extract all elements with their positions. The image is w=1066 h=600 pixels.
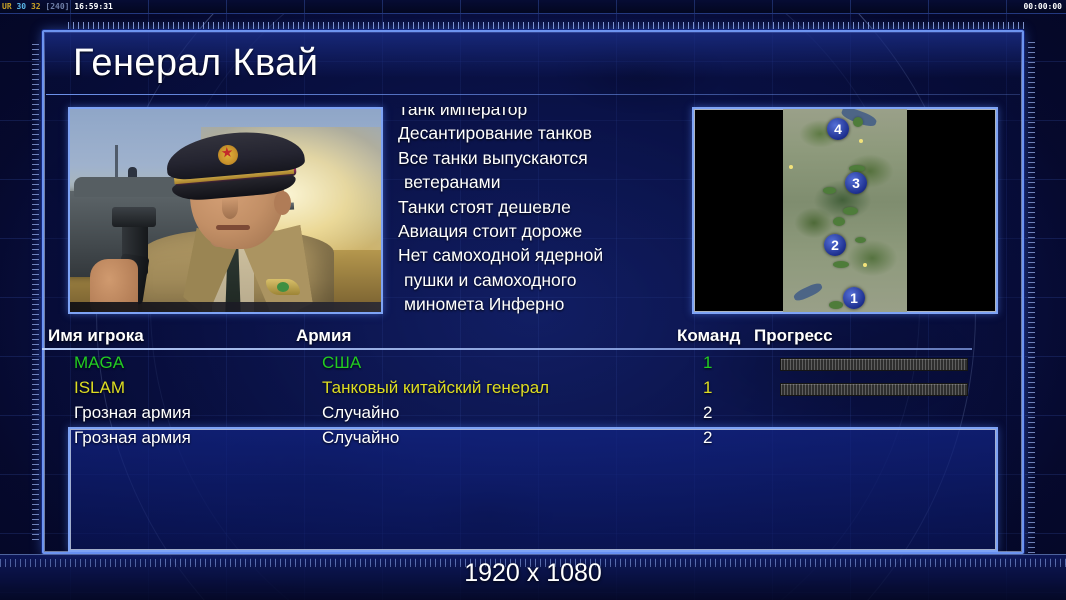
map-terrain-patch bbox=[833, 217, 845, 226]
map-preview-image: 4 3 2 1 bbox=[783, 109, 907, 314]
ability-line: Все танки выпускаются bbox=[388, 146, 678, 170]
map-start-position-1[interactable]: 1 bbox=[843, 287, 865, 309]
map-terrain-patch bbox=[853, 117, 863, 127]
ruler-left-icon bbox=[32, 44, 39, 544]
player-table-header-divider bbox=[42, 348, 972, 350]
header-army: Армия bbox=[296, 326, 351, 346]
table-row[interactable]: Грозная армияСлучайно2 bbox=[68, 428, 998, 453]
header-player-name: Имя игрока bbox=[48, 326, 144, 346]
table-row[interactable]: Грозная армияСлучайно2 bbox=[68, 403, 998, 428]
general-description: Танк императорДесантирование танковВсе т… bbox=[388, 107, 678, 314]
title-divider bbox=[46, 94, 1020, 95]
top-hud-bar: UR 30 32 [240] 16:59:31 00:00:00 bbox=[0, 0, 1066, 14]
map-start-position-2[interactable]: 2 bbox=[824, 234, 846, 256]
ruler-top-icon bbox=[68, 22, 1024, 29]
general-ability-list: Танк императорДесантирование танковВсе т… bbox=[388, 107, 678, 314]
top-hud-grid bbox=[0, 0, 1066, 13]
hud-bracket-value: [240] bbox=[45, 2, 69, 11]
ability-line: Танк император bbox=[388, 107, 678, 121]
hud-status-left: UR 30 32 [240] 16:59:31 bbox=[2, 1, 113, 12]
cell-player-name: Грозная армия bbox=[74, 428, 191, 448]
map-start-position-3[interactable]: 3 bbox=[845, 172, 867, 194]
cell-player-name: Грозная армия bbox=[74, 403, 191, 423]
hud-timer-right: 00:00:00 bbox=[1023, 1, 1062, 12]
cell-army: США bbox=[322, 353, 361, 373]
map-resource-icon bbox=[859, 139, 863, 143]
ability-line: Десантирование танков bbox=[388, 121, 678, 145]
resolution-bar: 1920 x 1080 bbox=[0, 554, 1066, 600]
ability-line: пушки и самоходного bbox=[388, 268, 678, 292]
portrait-footer-strip bbox=[70, 302, 381, 312]
general-info-row: Танк императорДесантирование танковВсе т… bbox=[68, 107, 998, 319]
main-panel: Генерал Квай bbox=[42, 30, 1024, 554]
map-resource-icon bbox=[863, 263, 867, 267]
resolution-label: 1920 x 1080 bbox=[0, 559, 1066, 588]
officer-mouth bbox=[216, 225, 250, 230]
officer-nose bbox=[222, 197, 238, 219]
cell-team: 2 bbox=[703, 428, 712, 448]
officer-badge-icon bbox=[266, 279, 300, 295]
map-river-south bbox=[792, 281, 823, 303]
officer-ear bbox=[274, 191, 291, 215]
page-title: Генерал Квай bbox=[73, 42, 318, 85]
table-row[interactable]: MAGAСША1 bbox=[68, 353, 998, 378]
cell-player-name: ISLAM bbox=[74, 378, 125, 398]
ability-line: Танки стоят дешевле bbox=[388, 195, 678, 219]
cell-army: Случайно bbox=[322, 403, 399, 423]
cell-team: 2 bbox=[703, 403, 712, 423]
general-portrait-art bbox=[70, 109, 381, 312]
map-resource-icon bbox=[789, 165, 793, 169]
ability-line: Нет самоходной ядерной bbox=[388, 243, 678, 267]
ruler-right-icon bbox=[1028, 42, 1035, 554]
cell-army: Танковый китайский генерал bbox=[322, 378, 549, 398]
map-terrain-patch bbox=[833, 261, 849, 268]
map-terrain-patch bbox=[829, 301, 843, 309]
player-list: MAGAСША1ISLAMТанковый китайский генерал1… bbox=[68, 353, 998, 553]
cell-team: 1 bbox=[703, 378, 712, 398]
map-terrain-patch bbox=[855, 237, 866, 243]
map-terrain-patch bbox=[843, 207, 858, 215]
map-terrain-patch bbox=[849, 165, 865, 172]
progress-bar bbox=[780, 383, 968, 396]
general-portrait bbox=[68, 107, 383, 314]
ability-line: ветеранами bbox=[388, 170, 678, 194]
map-terrain-patch bbox=[823, 187, 836, 194]
hud-clock: 16:59:31 bbox=[74, 2, 113, 11]
ability-line: миномета Инферно bbox=[388, 292, 678, 314]
cell-army: Случайно bbox=[322, 428, 399, 448]
cell-player-name: MAGA bbox=[74, 353, 124, 373]
hud-value-2: 32 bbox=[31, 2, 41, 11]
hud-value-1: 30 bbox=[16, 2, 26, 11]
table-row[interactable]: ISLAMТанковый китайский генерал1 bbox=[68, 378, 998, 403]
progress-bar bbox=[780, 358, 968, 371]
pistol-slide bbox=[112, 207, 156, 227]
map-preview[interactable]: 4 3 2 1 bbox=[692, 107, 998, 314]
ability-line: Авиация стоит дороже bbox=[388, 219, 678, 243]
header-team: Команд bbox=[677, 326, 740, 346]
hud-prefix: UR bbox=[2, 2, 12, 11]
header-progress: Прогресс bbox=[754, 326, 833, 346]
cell-team: 1 bbox=[703, 353, 712, 373]
map-start-position-4[interactable]: 4 bbox=[827, 118, 849, 140]
